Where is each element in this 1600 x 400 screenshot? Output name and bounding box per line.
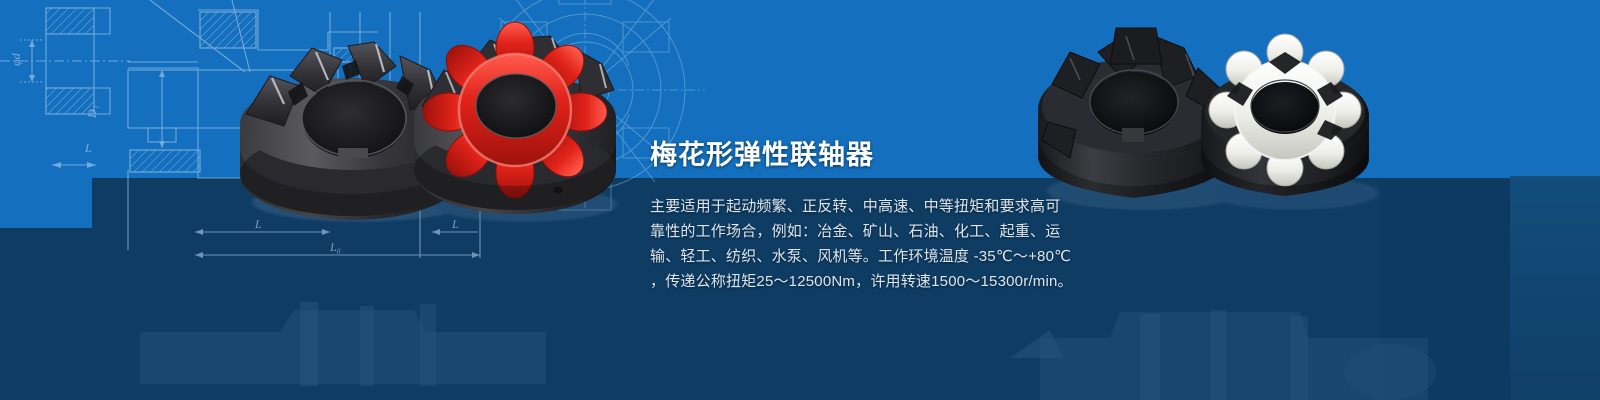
banner-copy: 梅花形弹性联轴器 主要适用于起动频繁、正反转、中高速、中等扭矩和要求高可 靠性的… [650,138,1070,294]
dim-label-phi-d: φd [9,52,23,66]
description-line-1: 主要适用于起动频繁、正反转、中高速、中等扭矩和要求高可 [650,194,1070,219]
page-title: 梅花形弹性联轴器 [650,138,1070,172]
jaw-coupling-red-spider [408,18,623,223]
dim-label-D1: D₁ [85,105,99,119]
machinery-watermark [0,280,1600,400]
description-line-2: 靠性的工作场合，例如：冶金、矿山、石油、化工、起重、运 [650,219,1070,244]
product-banner: φd D₁ D L L L₀ L [0,0,1600,400]
description-line-4: ，传递公称扭矩25～12500Nm，许用转速1500～15300r/min。 [650,269,1070,294]
dim-label-L-left: L [84,141,92,155]
dim-label-L0: L₀ [329,240,341,254]
jaw-coupling-white-spider [1195,30,1375,210]
banner-description: 主要适用于起动频繁、正反转、中高速、中等扭矩和要求高可 靠性的工作场合，例如：冶… [650,194,1070,294]
description-line-3: 输、轻工、纺织、水泵、风机等。工作环境温度 -35℃～+80℃ [650,244,1070,269]
